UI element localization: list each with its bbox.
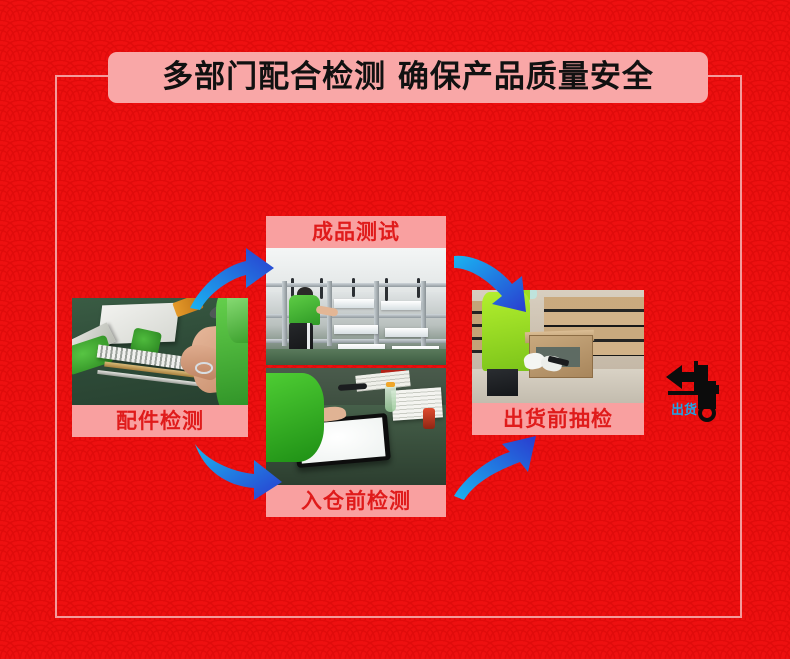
arrow-test-to-shipment-icon [452,246,540,318]
step-card-finished-test[interactable]: 成品测试 [266,216,446,365]
step-card-pre-warehouse-check[interactable]: 入仓前检测 [266,368,446,517]
arrow-parts-to-warehouse-icon [192,438,284,502]
photo-pre-warehouse-check [266,368,446,485]
photo-parts-inspection [72,298,248,405]
arrow-warehouse-to-shipment-icon [452,432,540,504]
step-caption-pre-warehouse-check: 入仓前检测 [266,485,446,517]
page-root: 多部门配合检测 确保产品质量安全 配件检测 [0,0,790,659]
truck-label: 出货 [660,404,708,417]
step-caption-parts-inspection: 配件检测 [72,405,248,437]
page-title-banner: 多部门配合检测 确保产品质量安全 [108,52,708,103]
step-card-parts-inspection[interactable]: 配件检测 [72,298,248,437]
page-title: 多部门配合检测 确保产品质量安全 [162,62,654,93]
step-caption-finished-test: 成品测试 [266,216,446,248]
step-caption-pre-shipment-check: 出货前抽检 [472,403,644,435]
photo-finished-test [266,248,446,365]
arrow-parts-to-test-icon [186,240,276,312]
